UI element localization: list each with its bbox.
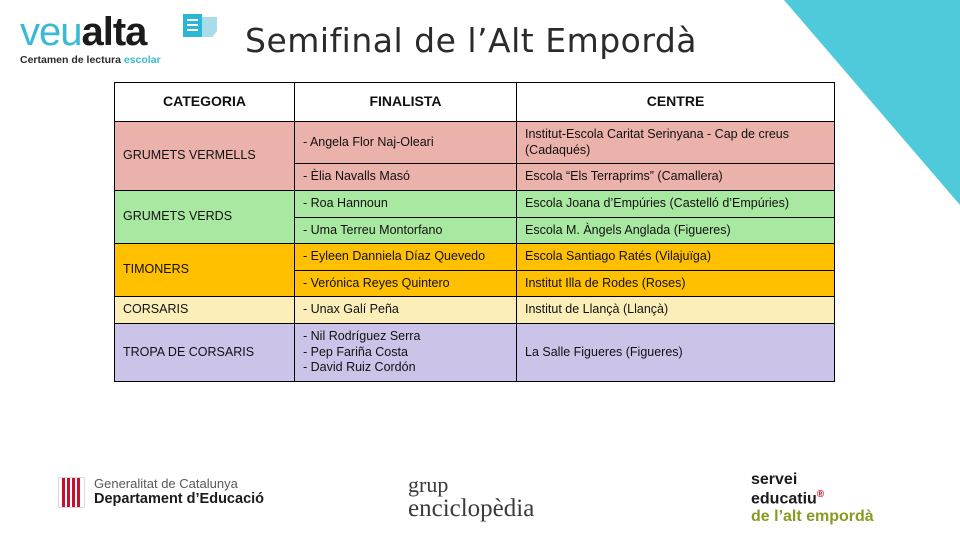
centre-cell: Escola Joana d’Empúries (Castelló d’Empú…: [517, 190, 835, 217]
generalitat-line1: Generalitat de Catalunya: [94, 476, 264, 491]
centre-cell: La Salle Figueres (Figueres): [517, 324, 835, 382]
generalitat-logo: Generalitat de Catalunya Departament d’E…: [58, 476, 264, 508]
slide-header: veualta Certamen de lectura escolar Semi…: [0, 0, 960, 80]
finalist-cell: - Eyleen Danniela Díaz Quevedo: [295, 244, 517, 271]
veualta-tagline-accent: escolar: [124, 54, 161, 66]
category-cell-corsaris: CORSARIS: [115, 297, 295, 324]
finalist-cell: - Verónica Reyes Quintero: [295, 270, 517, 297]
veualta-logo-veu: veu: [20, 10, 82, 54]
table-row: TROPA DE CORSARIS - Nil Rodríguez Serra …: [115, 324, 835, 382]
column-header-centre: CENTRE: [517, 83, 835, 122]
centre-cell: Escola “Els Terraprims” (Camallera): [517, 164, 835, 191]
speech-bubble-lines-icon: [183, 14, 217, 40]
servei-line1: servei: [751, 471, 874, 489]
servei-line3: de l’alt empordà: [751, 508, 874, 526]
table-header-row: CATEGORIA FINALISTA CENTRE: [115, 83, 835, 122]
enciclopedia-line2: enciclopèdia: [408, 496, 534, 521]
centre-cell: Institut-Escola Caritat Serinyana - Cap …: [517, 122, 835, 164]
finalist-cell: - Roa Hannoun: [295, 190, 517, 217]
veualta-wordmark: veualta: [20, 12, 205, 52]
column-header-categoria: CATEGORIA: [115, 83, 295, 122]
centre-cell: Institut Illa de Rodes (Roses): [517, 270, 835, 297]
centre-cell: Institut de Llançà (Llançà): [517, 297, 835, 324]
veualta-tagline: Certamen de lectura escolar: [20, 54, 205, 66]
category-cell-grumets-vermells: GRUMETS VERMELLS: [115, 122, 295, 191]
centre-cell: Escola M. Àngels Anglada (Figueres): [517, 217, 835, 244]
veualta-logo: veualta Certamen de lectura escolar: [20, 12, 205, 66]
table-row: TIMONERS - Eyleen Danniela Díaz Quevedo …: [115, 244, 835, 271]
column-header-finalista: FINALISTA: [295, 83, 517, 122]
veualta-logo-alta: alta: [82, 10, 147, 54]
table-row: CORSARIS - Unax Galí Peña Institut de Ll…: [115, 297, 835, 324]
centre-cell: Escola Santiago Ratés (Vilajuïga): [517, 244, 835, 271]
servei-line2-text: educatiu: [751, 490, 817, 507]
generalitat-line2: Departament d’Educació: [94, 491, 264, 508]
servei-line2: educatiu®: [751, 489, 874, 508]
finalist-cell: - Uma Terreu Montorfano: [295, 217, 517, 244]
finalist-cell: - Nil Rodríguez Serra - Pep Fariña Costa…: [295, 324, 517, 382]
grup-enciclopedia-logo: grup enciclopèdia: [408, 474, 534, 521]
category-cell-timoners: TIMONERS: [115, 244, 295, 297]
page-title: Semifinal de l’Alt Empordà: [245, 21, 697, 60]
finalists-table: CATEGORIA FINALISTA CENTRE GRUMETS VERME…: [114, 82, 835, 382]
enciclopedia-line1: grup: [408, 474, 534, 496]
finalist-cell: - Unax Galí Peña: [295, 297, 517, 324]
category-cell-tropa-de-corsaris: TROPA DE CORSARIS: [115, 324, 295, 382]
generalitat-logo-text: Generalitat de Catalunya Departament d’E…: [94, 476, 264, 508]
finalist-cell: - Angela Flor Naj-Oleari: [295, 122, 517, 164]
catalonia-shield-icon: [58, 477, 85, 508]
veualta-tagline-main: Certamen de lectura: [20, 54, 124, 66]
category-cell-grumets-verds: GRUMETS VERDS: [115, 190, 295, 243]
finalists-table-container: CATEGORIA FINALISTA CENTRE GRUMETS VERME…: [114, 82, 834, 382]
servei-educatiu-logo: servei educatiu® de l’alt empordà: [751, 471, 874, 527]
finalists-table-body: GRUMETS VERMELLS - Angela Flor Naj-Olear…: [115, 122, 835, 382]
registered-trademark-icon: ®: [817, 489, 824, 500]
finalist-cell: - Èlia Navalls Masó: [295, 164, 517, 191]
slide-footer: Generalitat de Catalunya Departament d’E…: [0, 468, 960, 540]
table-row: GRUMETS VERDS - Roa Hannoun Escola Joana…: [115, 190, 835, 217]
table-row: GRUMETS VERMELLS - Angela Flor Naj-Olear…: [115, 122, 835, 164]
